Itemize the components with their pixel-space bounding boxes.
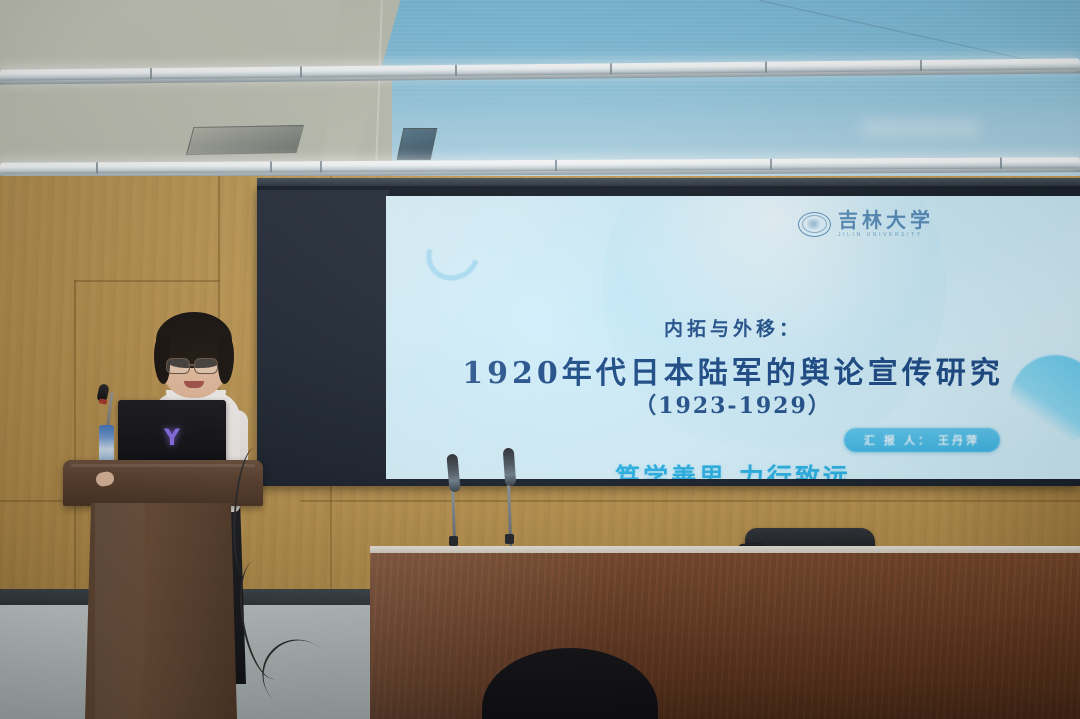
- university-name-en: JILIN UNIVERSITY: [838, 232, 934, 238]
- laptop[interactable]: Y: [118, 400, 226, 464]
- water-bottle: [99, 425, 114, 465]
- university-logo: 吉林大学 JILIN UNIVERSITY: [798, 210, 934, 238]
- air-vent-icon: [186, 125, 304, 155]
- podium-highlight: [95, 503, 145, 719]
- lecture-hall-photo: 吉林大学 JILIN UNIVERSITY 内拓与外移： 1920年代日本陆军的…: [0, 0, 1080, 719]
- university-seal-icon: [798, 212, 831, 237]
- eyeglasses-icon: [166, 358, 190, 374]
- slide-crescent-decoration: [417, 220, 488, 289]
- presentation-slide: 吉林大学 JILIN UNIVERSITY 内拓与外移： 1920年代日本陆军的…: [386, 196, 1080, 479]
- slide-subtitle: 内拓与外移：: [386, 314, 1080, 341]
- eyeglasses-bridge: [188, 364, 195, 366]
- presenter-badge: 汇 报 人： 王丹萍: [844, 428, 1000, 452]
- microphone-base: [449, 536, 458, 546]
- ceiling-texture: [370, 0, 1080, 100]
- laptop-logo: Y: [164, 428, 180, 450]
- air-vent-icon: [397, 128, 438, 160]
- university-name-cn: 吉林大学: [838, 210, 934, 230]
- podium-top: [63, 460, 263, 506]
- projection-screen-unlit-area: [257, 190, 389, 486]
- microphone-base: [505, 534, 514, 544]
- slide-title: 1920年代日本陆军的舆论宣传研究: [386, 348, 1080, 392]
- slide-motto: 笃学善思 力行致远: [386, 458, 1080, 479]
- slide-year-range: （1923-1929）: [386, 388, 1080, 420]
- eyeglasses-icon: [194, 358, 218, 374]
- ceiling-glow: [860, 118, 980, 138]
